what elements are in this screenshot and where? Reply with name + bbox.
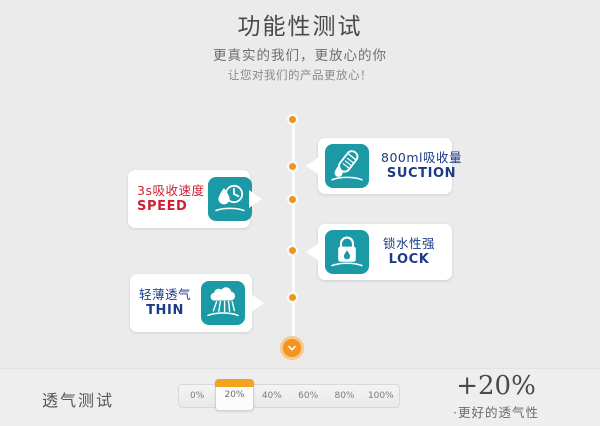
scale-segment-20[interactable]: 20% (215, 379, 253, 411)
header-subtitle-secondary: 让您对我们的产品更放心！ (0, 66, 600, 84)
feature-card-thin[interactable]: 轻薄透气 THIN (130, 274, 252, 332)
feature-card-text: 轻薄透气 THIN (139, 287, 191, 319)
feature-card-label-en: SPEED (137, 199, 187, 215)
feature-card-label-cn: 锁水性强 (383, 236, 435, 252)
timeline-dot (287, 245, 298, 256)
feature-card-label-en: SUCTION (387, 166, 456, 182)
feature-card-label-cn: 800ml吸收量 (381, 150, 462, 166)
feature-card-label-en: THIN (146, 303, 184, 319)
result-block: +20% ·更好的透气性 (416, 372, 576, 421)
timeline-dot (287, 161, 298, 172)
padlock-droplet-icon (325, 230, 369, 274)
card-tail (306, 243, 319, 261)
timeline-dot (287, 114, 298, 125)
header: 功能性测试 更真实的我们，更放心的你 让您对我们的产品更放心！ (0, 12, 600, 84)
feature-card-speed[interactable]: 3s吸收速度 SPEED (128, 170, 250, 228)
feature-card-lock[interactable]: 锁水性强 LOCK (318, 224, 452, 280)
timeline-line (292, 118, 295, 346)
breathability-scale[interactable]: 0% 20% 40% 60% 80% 100% (178, 384, 400, 408)
breathability-test-label: 透气测试 (42, 387, 114, 411)
feature-card-suction[interactable]: 800ml吸收量 SUCTION (318, 138, 452, 194)
result-caption: ·更好的透气性 (416, 402, 576, 421)
scale-segment-40[interactable]: 40% (254, 385, 290, 407)
feature-card-label-cn: 轻薄透气 (139, 287, 191, 303)
scale-segment-100[interactable]: 100% (363, 385, 399, 407)
result-value: +20% (416, 372, 576, 400)
feature-card-text: 锁水性强 LOCK (383, 236, 435, 268)
page-title: 功能性测试 (0, 12, 600, 42)
header-subtitle: 更真实的我们，更放心的你 (0, 46, 600, 66)
feature-card-text: 3s吸收速度 SPEED (137, 183, 204, 215)
feature-card-text: 800ml吸收量 SUCTION (381, 150, 462, 182)
feature-card-label-en: LOCK (389, 252, 430, 268)
scale-segment-60[interactable]: 60% (290, 385, 326, 407)
scale-segment-0[interactable]: 0% (179, 385, 215, 407)
poster-stage: 功能性测试 更真实的我们，更放心的你 让您对我们的产品更放心！ 3s吸收速度 S… (0, 0, 600, 425)
timeline-end-button[interactable] (280, 336, 304, 360)
card-tail (306, 157, 319, 175)
scale-segment-80[interactable]: 80% (326, 385, 362, 407)
card-tail (249, 190, 262, 208)
card-tail (251, 294, 264, 312)
droplet-clock-icon (208, 177, 252, 221)
test-tube-icon (325, 144, 369, 188)
cloud-airflow-icon (201, 281, 245, 325)
timeline-dot (287, 292, 298, 303)
feature-card-label-cn: 3s吸收速度 (137, 183, 204, 199)
timeline-dot (287, 194, 298, 205)
chevron-down-icon (286, 342, 298, 354)
